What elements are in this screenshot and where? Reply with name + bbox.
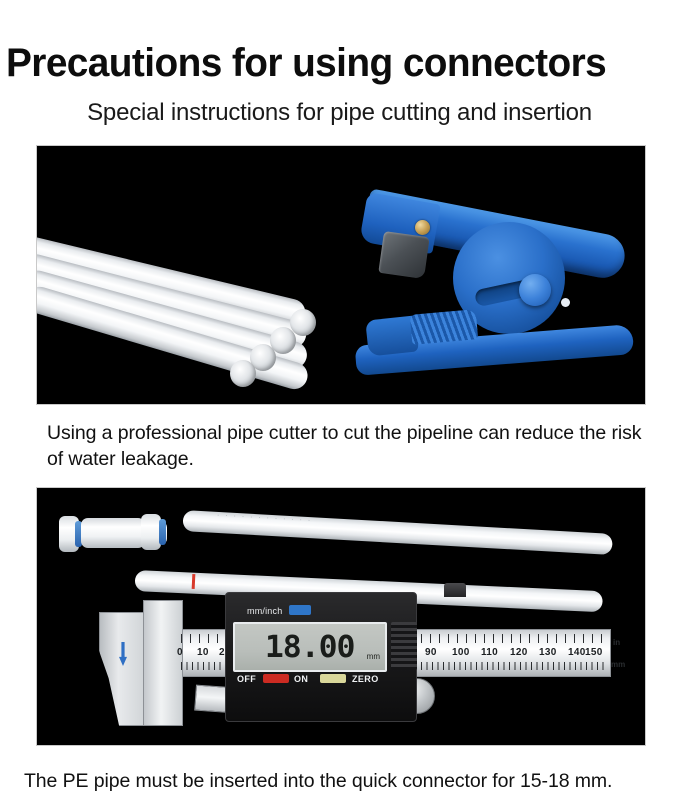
caliper-power-button[interactable] — [263, 674, 289, 683]
caliper-scale-ticks — [181, 634, 227, 643]
caliper-mm-inch-button[interactable] — [289, 605, 311, 615]
caliper-scale-number: 90 — [425, 647, 437, 658]
cutter-release-knob — [519, 274, 551, 306]
caliper-scale-number: 100 — [452, 647, 470, 658]
digital-caliper: 0 10 20 90 100 110 120 130 140 150 in mm… — [77, 592, 637, 742]
caliper-off-label: OFF — [237, 674, 256, 684]
connector-collet-ring — [159, 519, 166, 545]
caliper-unit-imperial: in — [613, 638, 620, 647]
caliper-battery-tab — [444, 583, 466, 597]
caption-pipe-insertion: The PE pipe must be inserted into the qu… — [24, 768, 674, 794]
caliper-zero-label: ZERO — [352, 674, 379, 684]
caliper-scale-number: 150 — [585, 647, 603, 658]
caliper-vent-grille — [391, 622, 417, 670]
caliper-scale-ticks — [421, 662, 607, 670]
pipe-cutter-tool — [349, 176, 639, 381]
cutter-grip-ridges — [410, 309, 478, 345]
cutter-screw-icon — [415, 220, 430, 235]
caliper-zero-button[interactable] — [320, 674, 346, 683]
pe-tube-end — [290, 309, 316, 336]
caliper-lcd-screen: 18.00 mm — [233, 622, 387, 672]
photo-pipe-insertion: · · · · · · · · · · · · 0 10 20 90 100 1… — [36, 487, 646, 746]
connector-body — [81, 518, 145, 548]
caption-pipe-cutting: Using a professional pipe cutter to cut … — [47, 420, 647, 472]
caliper-scale-number: 130 — [539, 647, 557, 658]
cutter-blade-icon — [378, 231, 429, 279]
caliper-scale-ticks — [421, 634, 607, 643]
page-root: Precautions for using connectors Special… — [0, 0, 679, 797]
caliper-unit-metric: mm — [611, 660, 625, 669]
caliper-scale-number: 140 — [568, 647, 586, 658]
pe-tube-bundle — [36, 234, 321, 384]
caliper-mm-inch-label: mm/inch — [247, 606, 282, 616]
page-title: Precautions for using connectors — [6, 40, 653, 86]
caliper-on-label: ON — [294, 674, 308, 684]
quick-connector — [59, 510, 191, 556]
connector-end-cap — [141, 514, 161, 550]
caliper-sliding-jaw — [143, 600, 183, 726]
caliper-scale-number: 120 — [510, 647, 528, 658]
caliper-scale-number: 0 — [177, 647, 183, 658]
caliper-scale-number: 110 — [481, 647, 498, 658]
cutter-pin-dot — [561, 298, 570, 307]
page-subtitle: Special instructions for pipe cutting an… — [0, 98, 679, 128]
caliper-scale-number: 10 — [197, 647, 209, 658]
caliper-scale-ticks — [181, 662, 227, 670]
caliper-reading-unit: mm — [367, 652, 380, 661]
pe-tube-end — [230, 360, 256, 387]
caliper-fixed-jaw — [99, 612, 147, 726]
photo-pipe-cutting — [36, 145, 646, 405]
caliper-reading-value: 18.00 — [265, 630, 355, 665]
